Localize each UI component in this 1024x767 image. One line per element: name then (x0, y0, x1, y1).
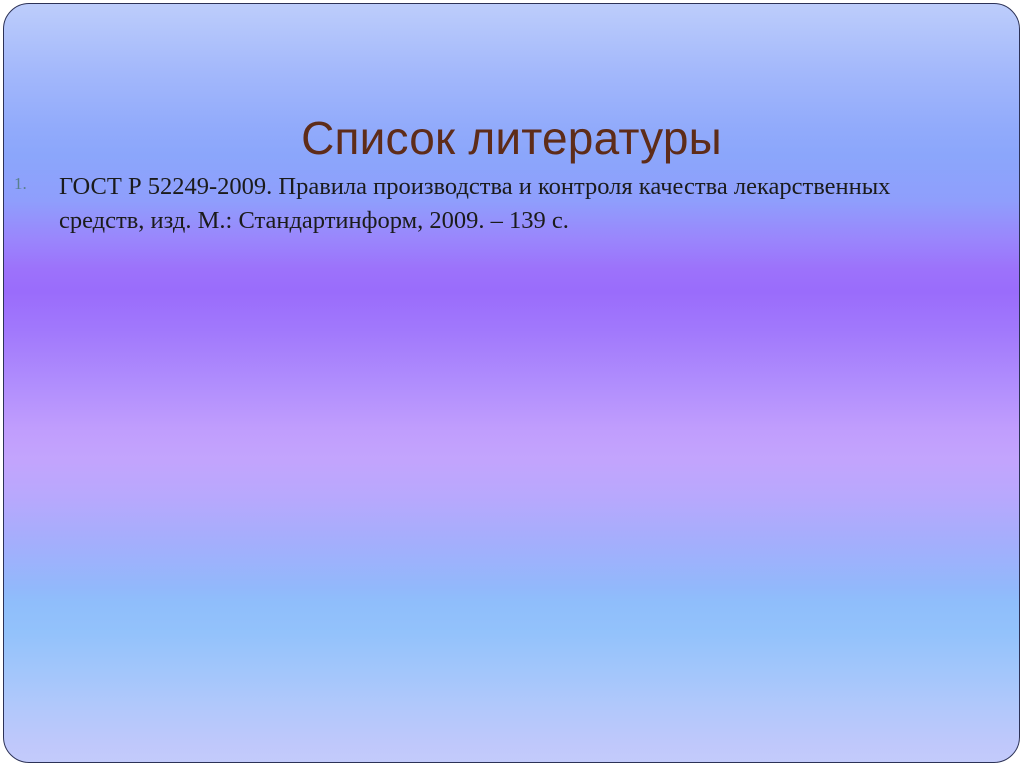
slide-page: Список литературы 1. ГОСТ Р 52249-2009. … (0, 0, 1024, 767)
list-item-text: ГОСТ Р 52249-2009. Правила производства … (59, 170, 952, 238)
reference-list: 1. ГОСТ Р 52249-2009. Правила производст… (12, 170, 952, 238)
list-item-number: 1. (14, 175, 27, 192)
presentation-slide: Список литературы 1. ГОСТ Р 52249-2009. … (3, 3, 1020, 763)
page-title: Список литературы (4, 113, 1019, 164)
list-item: 1. ГОСТ Р 52249-2009. Правила производст… (12, 170, 952, 238)
